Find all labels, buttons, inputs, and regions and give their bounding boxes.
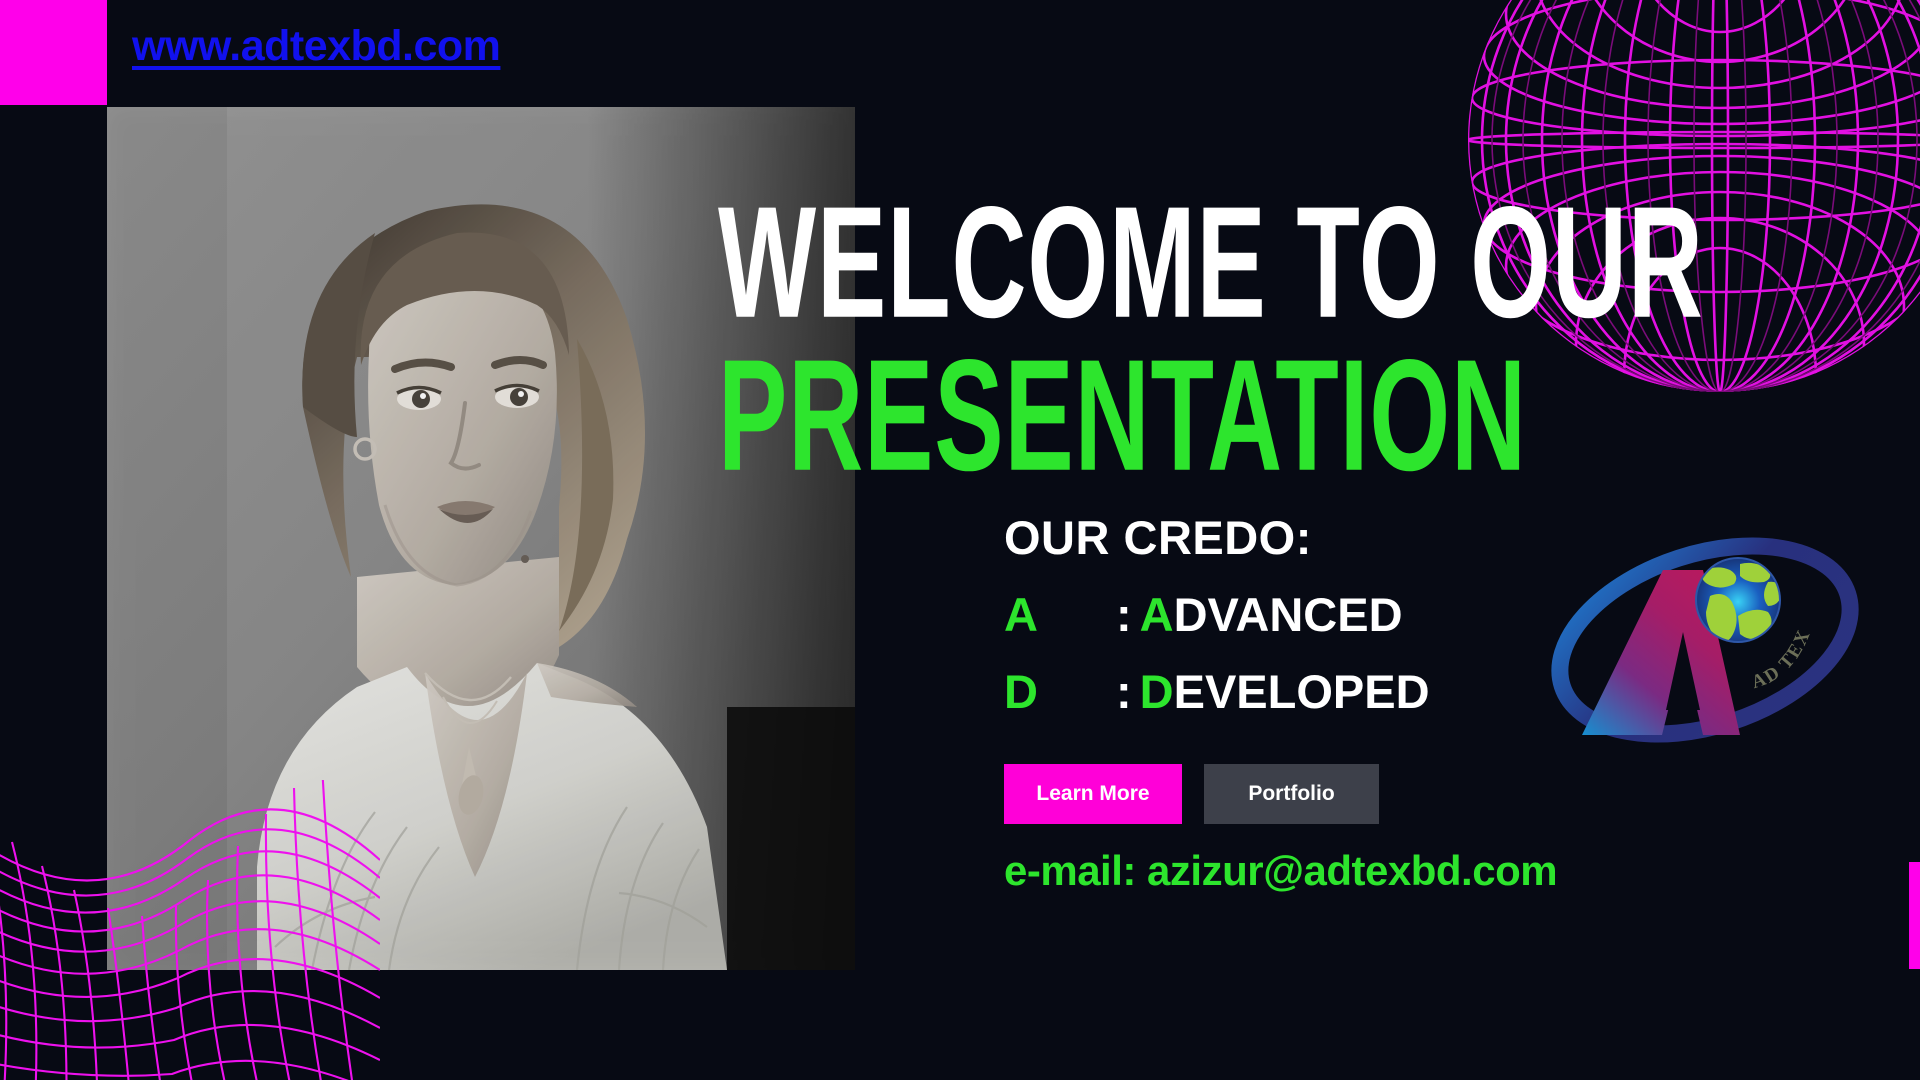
credo-rest-advanced: DVANCED [1174, 587, 1403, 642]
credo-colon-a: : [1116, 587, 1132, 642]
credo-rest-developed: EVELOPED [1174, 664, 1430, 719]
headline-block: WELCOME TO OUR PRESENTATION [718, 185, 1920, 466]
credo-colon-d: : [1116, 664, 1132, 719]
website-url-link[interactable]: www.adtexbd.com [132, 22, 500, 71]
credo-title: OUR CREDO: [1004, 510, 1430, 565]
contact-email[interactable]: e-mail: azizur@adtexbd.com [1004, 847, 1557, 895]
credo-key-a: A [1004, 587, 1116, 642]
credo-first-letter-d: D [1140, 664, 1174, 719]
learn-more-button[interactable]: Learn More [1004, 764, 1182, 824]
portfolio-button[interactable]: Portfolio [1204, 764, 1379, 824]
wireframe-mesh-icon [0, 780, 380, 1080]
credo-row-advanced: A : A DVANCED [1004, 587, 1430, 642]
magenta-corner-block [0, 0, 107, 105]
adtex-logo: AD TEX [1540, 520, 1860, 770]
credo-block: OUR CREDO: A : A DVANCED D : D EVELOPED [1004, 510, 1430, 741]
magenta-edge-bar [1909, 862, 1920, 969]
credo-row-developed: D : D EVELOPED [1004, 664, 1430, 719]
presentation-slide: www.adtexbd.com WELCOME TO OUR PRESENTAT… [0, 0, 1920, 1080]
headline-line-1: WELCOME TO OUR [718, 185, 1704, 340]
headline-line-2: PRESENTATION [718, 338, 1704, 493]
credo-first-letter-a: A [1140, 587, 1174, 642]
cta-button-row: Learn More Portfolio [1004, 764, 1379, 824]
credo-key-d: D [1004, 664, 1116, 719]
